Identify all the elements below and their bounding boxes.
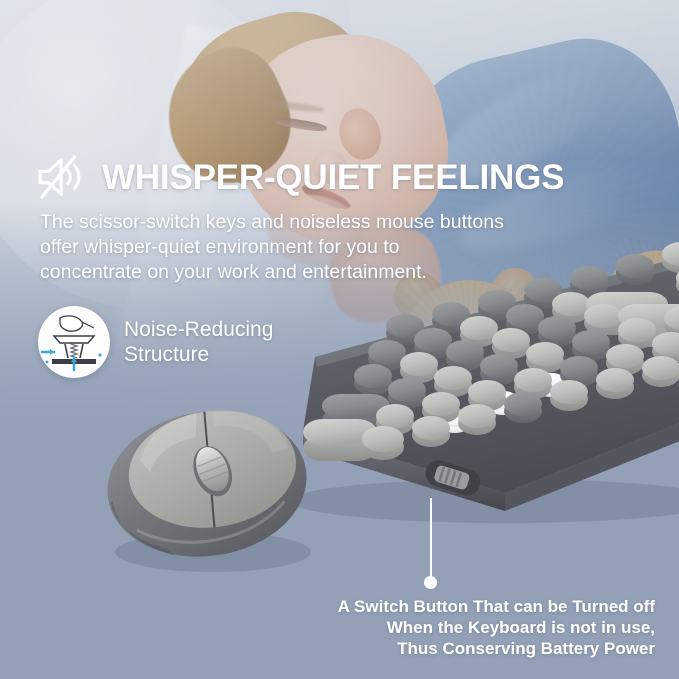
callout-leader-line xyxy=(430,498,432,582)
badge-label-line: Noise-Reducing xyxy=(124,317,273,342)
scissor-switch-diagram-icon xyxy=(38,306,110,378)
badge-label-line: Structure xyxy=(124,342,273,367)
callout-line: Thus Conserving Battery Power xyxy=(235,638,655,659)
product-feature-banner: WHISPER-QUIET FEELINGS The scissor-switc… xyxy=(0,0,679,679)
mouse xyxy=(95,392,320,577)
headline-row: WHISPER-QUIET FEELINGS xyxy=(36,155,564,199)
feature-badge: Noise-Reducing Structure xyxy=(38,306,273,378)
callout-dot xyxy=(424,576,437,589)
page-title: WHISPER-QUIET FEELINGS xyxy=(102,160,564,195)
badge-label: Noise-Reducing Structure xyxy=(124,317,273,367)
callout-line: A Switch Button That can be Turned off xyxy=(235,596,655,617)
badge-circle xyxy=(38,306,110,378)
photo-tint-overlay xyxy=(0,0,679,160)
mute-speaker-icon xyxy=(36,155,90,199)
callout-text: A Switch Button That can be Turned off W… xyxy=(235,596,655,659)
callout-line: When the Keyboard is not in use, xyxy=(235,617,655,638)
